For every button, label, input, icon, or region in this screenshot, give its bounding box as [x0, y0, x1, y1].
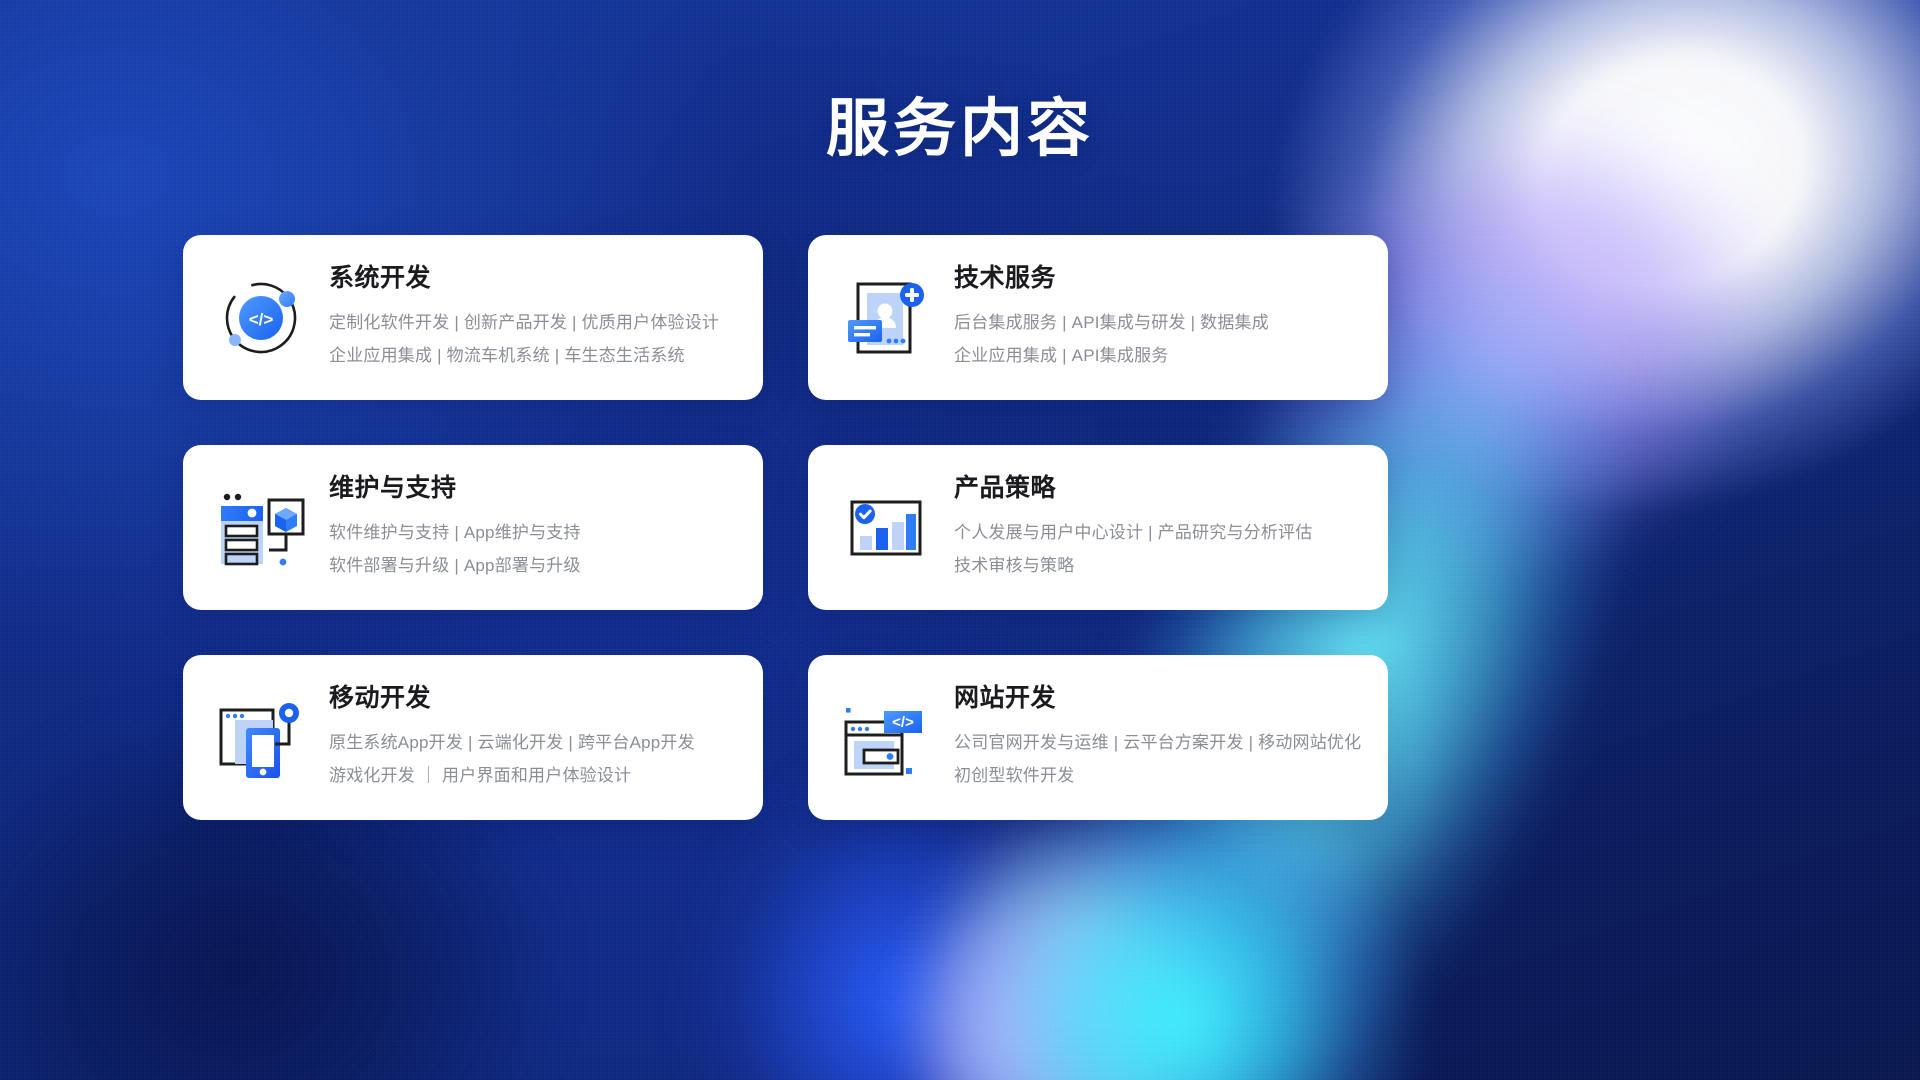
card-desc-line: 软件维护与支持 | App维护与支持 [329, 516, 737, 549]
bar-chart-check-icon [834, 476, 938, 580]
card-body: 产品策略 个人发展与用户中心设计 | 产品研究与分析评估 技术审核与策略 [954, 473, 1362, 583]
card-body: 移动开发 原生系统App开发 | 云端化开发 | 跨平台App开发 游戏化开发 … [329, 683, 737, 793]
card-body: 维护与支持 软件维护与支持 | App维护与支持 软件部署与升级 | App部署… [329, 473, 737, 583]
service-card-technical-service[interactable]: 技术服务 后台集成服务 | API集成与研发 | 数据集成 企业应用集成 | A… [808, 235, 1388, 400]
service-card-mobile-development[interactable]: 移动开发 原生系统App开发 | 云端化开发 | 跨平台App开发 游戏化开发 … [183, 655, 763, 820]
card-desc-line: 企业应用集成 | 物流车机系统 | 车生态生活系统 [329, 339, 737, 372]
service-section: 服务内容 [0, 0, 1920, 1080]
card-desc-line: 初创型软件开发 [954, 759, 1362, 792]
server-package-icon [209, 476, 313, 580]
card-desc-line: 原生系统App开发 | 云端化开发 | 跨平台App开发 [329, 726, 737, 759]
card-desc-line: 定制化软件开发 | 创新产品开发 | 优质用户体验设计 [329, 306, 737, 339]
service-card-product-strategy[interactable]: 产品策略 个人发展与用户中心设计 | 产品研究与分析评估 技术审核与策略 [808, 445, 1388, 610]
mobile-desktop-icon [209, 686, 313, 790]
code-orbit-icon: </> [209, 266, 313, 370]
card-title: 技术服务 [954, 265, 1362, 293]
card-title: 系统开发 [329, 265, 737, 293]
browser-code-icon: </> [834, 686, 938, 790]
card-desc-line: 软件部署与升级 | App部署与升级 [329, 549, 737, 582]
service-card-grid: </> 系统开发 定制化软件开发 | 创新产品开发 | 优质用户体验设计 企业应… [183, 235, 1700, 820]
svg-text:</>: </> [249, 310, 274, 329]
card-title: 维护与支持 [329, 475, 737, 503]
card-body: 网站开发 公司官网开发与运维 | 云平台方案开发 | 移动网站优化 初创型软件开… [954, 683, 1362, 793]
card-desc-line: 公司官网开发与运维 | 云平台方案开发 | 移动网站优化 [954, 726, 1362, 759]
page-title: 服务内容 [0, 98, 1920, 161]
card-desc-line: 游戏化开发 ｜ 用户界面和用户体验设计 [329, 759, 737, 792]
card-desc-line: 技术审核与策略 [954, 549, 1362, 582]
card-title: 网站开发 [954, 685, 1362, 713]
card-body: 技术服务 后台集成服务 | API集成与研发 | 数据集成 企业应用集成 | A… [954, 263, 1362, 373]
svg-text:</>: </> [892, 714, 914, 731]
card-desc-line: 后台集成服务 | API集成与研发 | 数据集成 [954, 306, 1362, 339]
card-title: 产品策略 [954, 475, 1362, 503]
service-card-system-development[interactable]: </> 系统开发 定制化软件开发 | 创新产品开发 | 优质用户体验设计 企业应… [183, 235, 763, 400]
card-body: 系统开发 定制化软件开发 | 创新产品开发 | 优质用户体验设计 企业应用集成 … [329, 263, 737, 373]
user-document-add-icon [834, 266, 938, 370]
card-title: 移动开发 [329, 685, 737, 713]
card-desc-line: 个人发展与用户中心设计 | 产品研究与分析评估 [954, 516, 1362, 549]
service-card-website-development[interactable]: </> 网站开发 公司官网开发与运维 | 云平台方案开发 | 移动网站优化 初创… [808, 655, 1388, 820]
service-card-maintenance-support[interactable]: 维护与支持 软件维护与支持 | App维护与支持 软件部署与升级 | App部署… [183, 445, 763, 610]
card-desc-line: 企业应用集成 | API集成服务 [954, 339, 1362, 372]
